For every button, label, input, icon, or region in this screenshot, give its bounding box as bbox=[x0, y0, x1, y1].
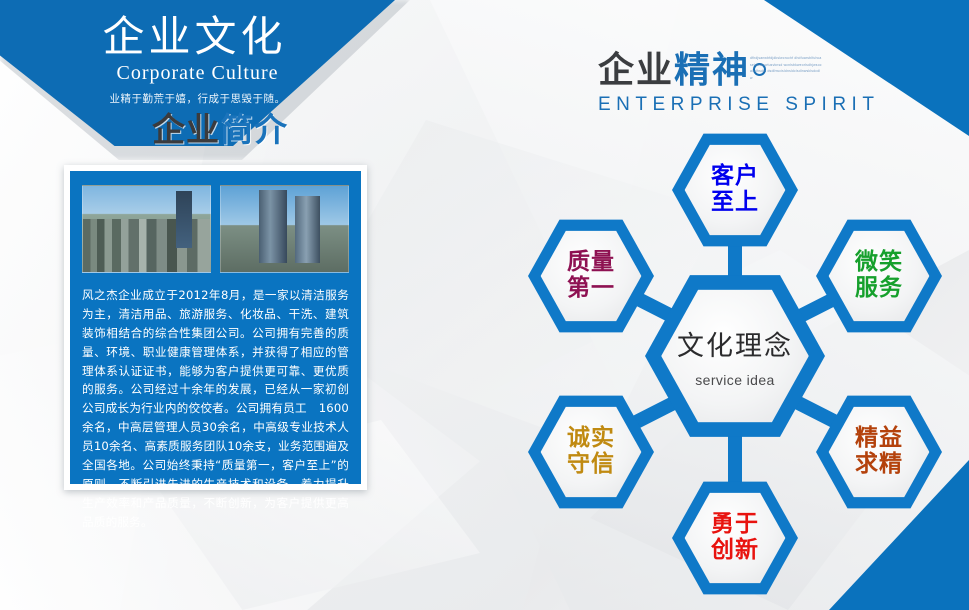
company-intro-text: 风之杰企业成立于2012年8月，是一家以清洁服务为主，清洁用品、旅游服务、化妆品… bbox=[82, 286, 349, 532]
photo-row bbox=[82, 185, 349, 273]
hex-label: 诚实 守信 bbox=[567, 426, 615, 478]
twin-towers-photo bbox=[220, 185, 349, 273]
hex-center-culture-concept[interactable]: 文化理念 service idea bbox=[645, 270, 825, 442]
hex-center-label-cn: 文化理念 bbox=[677, 324, 793, 363]
spirit-title-cn: 企业精神 bbox=[598, 52, 766, 88]
hex-customer-first[interactable]: 客户 至上 bbox=[672, 130, 798, 250]
culture-hexagon-diagram: 客户 至上 质量 第一 微笑 服务 诚实 守信 精益 求精 勇于 创新 bbox=[500, 120, 969, 590]
hex-center-label-en: service idea bbox=[695, 372, 775, 388]
hex-label: 质量 第一 bbox=[567, 250, 615, 302]
enterprise-spirit-header: 企业精神 ENTERPRISE SPIRIT dfhdjsanwbfdjdksl… bbox=[598, 52, 879, 116]
banner-tagline: 业精于勤荒于嬉，行成于思毁于随。 bbox=[110, 91, 286, 106]
banner-title-en: Corporate Culture bbox=[117, 62, 279, 85]
spirit-filler-text: dfhdjsanwbfdjdkslwcruchf dhdfuarsblfuhca… bbox=[750, 55, 822, 82]
hex-label: 微笑 服务 bbox=[855, 250, 903, 302]
hex-excellence[interactable]: 精益 求精 bbox=[816, 392, 942, 512]
hex-label: 勇于 创新 bbox=[711, 512, 759, 564]
intro-title-dark: 企业 bbox=[152, 111, 220, 148]
banner-title-cn: 企业文化 bbox=[102, 16, 286, 60]
spirit-title-en: ENTERPRISE SPIRIT bbox=[598, 94, 879, 116]
intro-title-blue: 简介 bbox=[220, 111, 288, 148]
corporate-culture-poster: 企业文化 Corporate Culture 业精于勤荒于嬉，行成于思毁于随。 … bbox=[0, 0, 969, 610]
city-skyline-photo bbox=[82, 185, 211, 273]
spirit-title-dark: 企业 bbox=[598, 49, 674, 90]
spirit-title-blue: 精神 bbox=[674, 49, 750, 90]
hex-label: 客户 至上 bbox=[711, 164, 759, 216]
hex-honesty-trust[interactable]: 诚实 守信 bbox=[528, 392, 654, 512]
hex-label: 精益 求精 bbox=[855, 426, 903, 478]
hex-quality-first[interactable]: 质量 第一 bbox=[528, 216, 654, 336]
hex-smile-service[interactable]: 微笑 服务 bbox=[816, 216, 942, 336]
company-intro-title: 企业简介 bbox=[152, 113, 288, 146]
company-intro-panel: 风之杰企业成立于2012年8月，是一家以清洁服务为主，清洁用品、旅游服务、化妆品… bbox=[70, 171, 361, 484]
hex-innovation[interactable]: 勇于 创新 bbox=[672, 478, 798, 598]
